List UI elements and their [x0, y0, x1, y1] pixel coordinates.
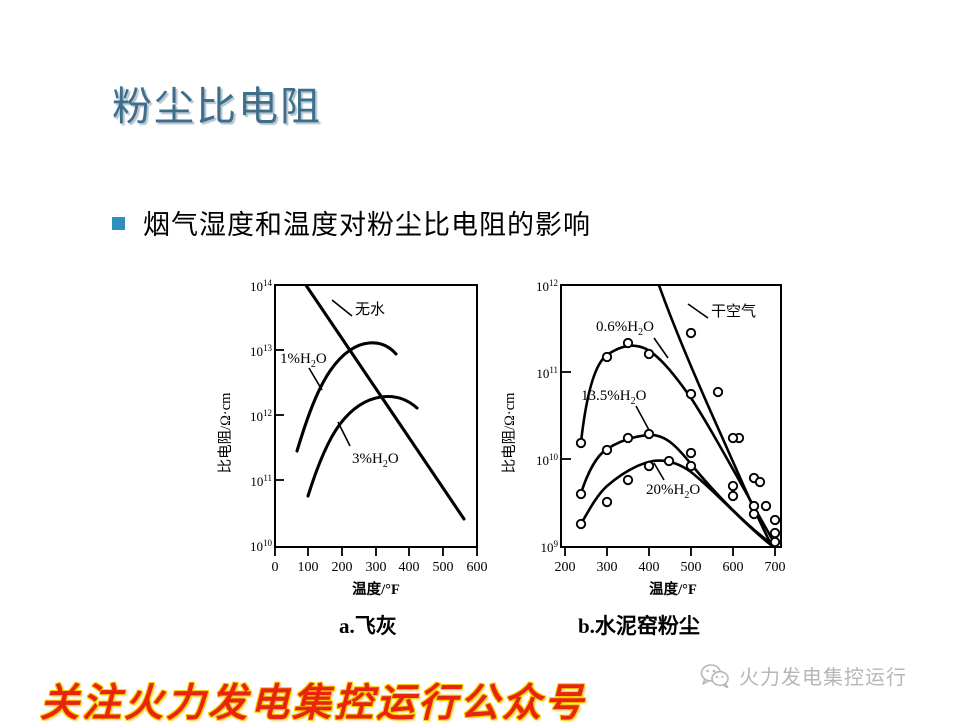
svg-text:0: 0: [272, 560, 279, 575]
chart-b-xtick-labels: 200 300 400 500 600 700: [555, 560, 786, 575]
chart-b: 比电阻/Ω·cm 1012 1011 1010 109: [496, 258, 796, 598]
svg-text:200: 200: [332, 560, 353, 575]
chart-b-ytick-labels: 1012 1011 1010 109: [536, 278, 559, 555]
wechat-icon: [700, 663, 730, 689]
svg-text:300: 300: [597, 560, 618, 575]
chart-a-yticks: [275, 350, 284, 480]
svg-text:300: 300: [366, 560, 387, 575]
bullet-item: 烟气湿度和温度对粉尘比电阻的影响: [112, 203, 591, 242]
chart-b-ylabel: 比电阻/Ω·cm: [501, 392, 518, 474]
chart-a-series-3pct: [308, 396, 417, 496]
chart-b-caption: b.水泥窑粉尘: [578, 610, 700, 640]
svg-text:1012: 1012: [250, 408, 272, 424]
chart-a-label-nowater: 无水: [355, 301, 385, 318]
svg-text:1011: 1011: [250, 473, 272, 489]
page-title: 粉尘比电阻: [112, 84, 322, 130]
svg-text:1010: 1010: [250, 538, 273, 554]
chart-b-label-dryair: 干空气: [711, 303, 756, 320]
svg-text:700: 700: [765, 560, 786, 575]
watermark-label: 火力发电集控运行: [739, 661, 907, 690]
chart-a-xticks: [275, 547, 477, 556]
chart-a-ylabel: 比电阻/Ω·cm: [217, 392, 234, 474]
figure-area: 比电阻/Ω·cm 1014 1013 1012 1011 1010: [0, 258, 960, 648]
bullet-item-label: 烟气湿度和温度对粉尘比电阻的影响: [143, 203, 591, 242]
svg-text:100: 100: [298, 560, 319, 575]
chart-b-plot-frame: [561, 285, 781, 547]
chart-b-yticks: [561, 372, 571, 459]
svg-text:1014: 1014: [250, 278, 273, 294]
chart-a-label-1pct: 1%H2O: [280, 351, 327, 370]
chart-b-svg: 比电阻/Ω·cm 1012 1011 1010 109: [496, 258, 796, 598]
chart-a-label-3pct: 3%H2O: [352, 451, 399, 470]
chart-b-label-20: 20%H2O: [646, 482, 700, 501]
chart-b-xticks: [565, 547, 775, 556]
chart-a-xlabel: 温度/°F: [352, 580, 400, 598]
svg-text:600: 600: [723, 560, 744, 575]
svg-text:109: 109: [541, 539, 559, 555]
square-bullet-icon: [112, 217, 125, 230]
svg-text:200: 200: [555, 560, 576, 575]
chart-a-svg: 比电阻/Ω·cm 1014 1013 1012 1011 1010: [212, 258, 492, 598]
chart-a: 比电阻/Ω·cm 1014 1013 1012 1011 1010: [212, 258, 492, 598]
chart-b-label-06: 0.6%H2O: [596, 319, 654, 338]
svg-text:1011: 1011: [536, 365, 558, 381]
chart-a-caption: a.飞灰: [339, 610, 397, 640]
svg-text:1013: 1013: [250, 343, 273, 359]
svg-text:1012: 1012: [536, 278, 558, 294]
svg-text:600: 600: [467, 560, 488, 575]
chart-a-plot-frame: [275, 285, 477, 547]
chart-b-markers: [577, 329, 779, 546]
watermark: 火力发电集控运行: [700, 661, 907, 690]
chart-a-xtick-labels: 0 100 200 300 400 500 600: [272, 560, 488, 575]
chart-a-ytick-labels: 1014 1013 1012 1011 1010: [250, 278, 273, 554]
svg-text:500: 500: [681, 560, 702, 575]
chart-b-label-135: 13.5%H2O: [581, 388, 647, 407]
chart-b-series-06: [581, 346, 775, 544]
svg-text:500: 500: [433, 560, 454, 575]
svg-text:400: 400: [399, 560, 420, 575]
svg-text:1010: 1010: [536, 452, 559, 468]
svg-text:400: 400: [639, 560, 660, 575]
chart-b-xlabel: 温度/°F: [649, 580, 697, 598]
